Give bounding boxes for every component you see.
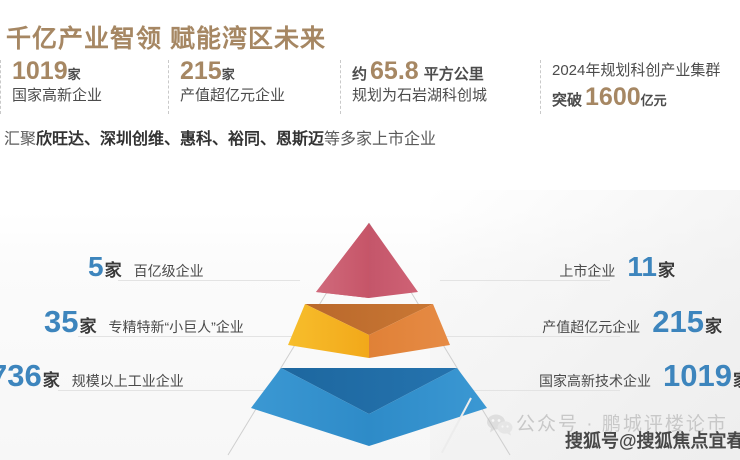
subtitle-suffix: 等多家上市企业 xyxy=(324,131,436,148)
callout-number: 5 xyxy=(88,250,104,284)
callout-number: 1019 xyxy=(663,359,732,393)
stat-label: 规划为石岩湖科创城 xyxy=(352,84,552,108)
subtitle-prefix: 汇聚 xyxy=(4,131,36,148)
stat-unit: 家 xyxy=(68,67,81,82)
subtitle-line: 汇聚欣旺达、深圳创维、惠科、裕同、恩斯迈等多家上市企业 xyxy=(4,128,436,152)
callout-unit: 家 xyxy=(79,312,96,337)
callout-unit: 家 xyxy=(658,256,675,281)
callout-label: 国家高新技术企业 xyxy=(539,371,651,391)
stat-unit: 家 xyxy=(222,67,235,82)
stat-suffix: 平方公里 xyxy=(424,66,484,83)
watermark-overlay: 搜狐号@搜狐焦点宜春站 xyxy=(565,427,740,453)
callout-right-middle: 产值超亿元企业 215 家 xyxy=(460,305,722,339)
stat-item-high-tech: 1019家 国家高新企业 xyxy=(0,58,172,116)
callout-unit: 家 xyxy=(105,256,122,281)
stat-number: 1600 xyxy=(585,83,641,111)
stat-item-cluster-2024: 2024年规划科创产业集群 突破1600亿元 xyxy=(540,58,740,116)
callout-label: 规模以上工业企业 xyxy=(72,371,184,391)
callout-left-bottom: 736 家 规模以上工业企业 xyxy=(0,359,184,393)
callout-label: 专精特新“小巨人”企业 xyxy=(108,317,243,337)
stat-value-row: 1019家 xyxy=(12,58,172,84)
stat-item-over-100m: 215家 产值超亿元企业 xyxy=(168,58,352,116)
wechat-icon xyxy=(486,413,510,433)
callout-left-middle: 35 家 专精特新“小巨人”企业 xyxy=(44,305,244,339)
stat-prefix: 突破 xyxy=(552,92,582,109)
subtitle-companies: 欣旺达、深圳创维、惠科、裕同、恩斯迈 xyxy=(36,131,324,148)
callout-right-top: 上市企业 11 家 xyxy=(460,250,675,284)
stats-row: 1019家 国家高新企业 215家 产值超亿元企业 约65.8平方公里 规划为石… xyxy=(0,58,740,116)
callout-label: 百亿级企业 xyxy=(134,261,204,281)
stat-value-row: 215家 xyxy=(180,58,352,84)
callout-unit: 家 xyxy=(43,366,60,391)
stat-prefix: 约 xyxy=(352,66,367,83)
infographic-page: 千亿产业智领 赋能湾区未来 1019家 国家高新企业 215家 产值超亿元企业 … xyxy=(0,0,740,460)
callout-unit: 家 xyxy=(733,366,740,391)
stat-number: 215 xyxy=(180,57,222,85)
stat-number: 1019 xyxy=(12,57,68,85)
callout-right-bottom: 国家高新技术企业 1019 家 xyxy=(460,359,740,393)
stat-heading: 2024年规划科创产业集群 xyxy=(552,58,740,84)
callout-left-top: 5 家 百亿级企业 xyxy=(88,250,204,284)
stat-value-row: 约65.8平方公里 xyxy=(352,58,552,84)
stat-unit: 亿元 xyxy=(641,93,667,108)
stat-value-row: 突破1600亿元 xyxy=(552,84,740,110)
stat-label: 国家高新企业 xyxy=(12,84,172,108)
callout-label: 产值超亿元企业 xyxy=(542,317,640,337)
stat-item-area: 约65.8平方公里 规划为石岩湖科创城 xyxy=(340,58,552,116)
callout-number: 35 xyxy=(44,305,78,339)
callout-label: 上市企业 xyxy=(559,261,615,281)
stat-number: 65.8 xyxy=(370,57,419,85)
page-title: 千亿产业智领 赋能湾区未来 xyxy=(6,24,326,54)
callout-number: 215 xyxy=(652,305,704,339)
callout-number: 736 xyxy=(0,359,42,393)
callout-number: 11 xyxy=(627,250,657,284)
stat-label: 产值超亿元企业 xyxy=(180,84,352,108)
callout-unit: 家 xyxy=(705,312,722,337)
